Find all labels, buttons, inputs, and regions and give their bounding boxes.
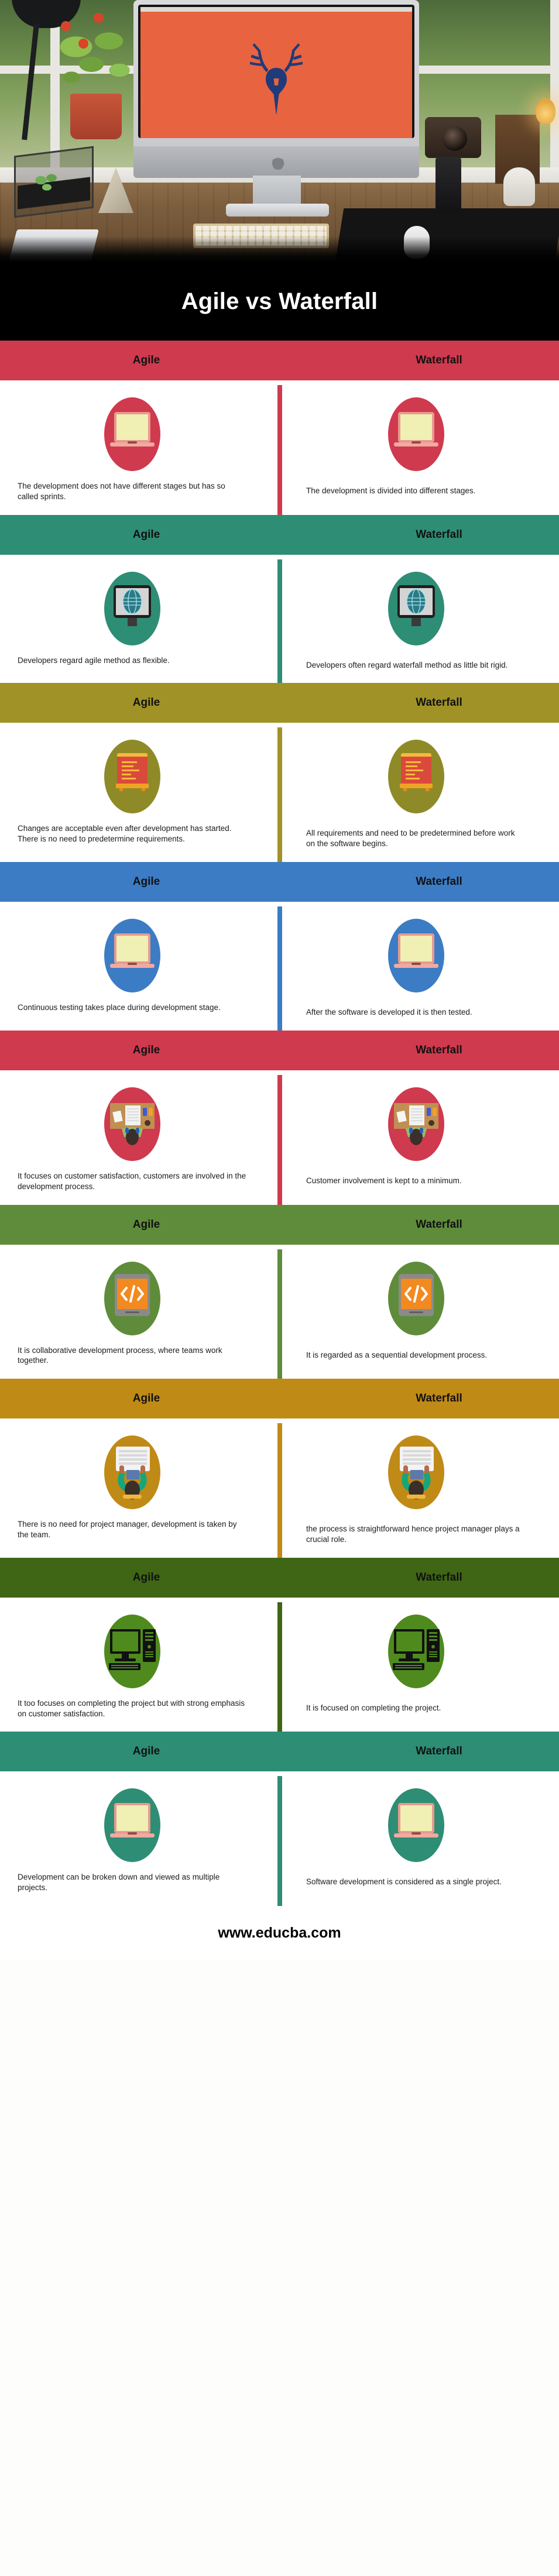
- comparison-section: Agile Waterfall Cha: [0, 683, 559, 862]
- band-label-agile: Agile: [79, 1392, 214, 1405]
- section-header-band: Agile Waterfall: [0, 1031, 559, 1070]
- comparison-section: Agile Waterfall: [0, 1379, 559, 1558]
- section-header-band: Agile Waterfall: [0, 515, 559, 555]
- document-board-icon: [383, 738, 449, 815]
- light-bulb-icon: [536, 98, 555, 124]
- agile-caption: Developers regard agile method as flexib…: [18, 655, 246, 666]
- comparison-sections: Agile Waterfall The development does not…: [0, 341, 559, 1906]
- comparison-section: Agile Waterfall The development does not…: [0, 341, 559, 515]
- band-label-waterfall: Waterfall: [372, 528, 506, 541]
- person-typing-icon: [383, 1434, 449, 1511]
- icon-artwork: [383, 1260, 449, 1337]
- title-band: Agile vs Waterfall: [0, 262, 559, 341]
- icon-artwork: [383, 396, 449, 473]
- icon-artwork: [383, 570, 449, 647]
- imac-stand-neck: [253, 176, 301, 206]
- agile-column: There is no need for project manager, de…: [0, 1434, 279, 1545]
- section-header-band: Agile Waterfall: [0, 1205, 559, 1245]
- icon-artwork: [100, 1613, 165, 1690]
- waterfall-column: Developers often regard waterfall method…: [279, 570, 558, 671]
- imac-stand-foot: [226, 204, 329, 217]
- band-label-waterfall: Waterfall: [372, 354, 506, 367]
- desk-scene: [0, 0, 559, 262]
- agile-column: Changes are acceptable even after develo…: [0, 738, 279, 849]
- icon-artwork: [100, 1260, 165, 1337]
- comparison-section: Agile Waterfall Development can be broke…: [0, 1732, 559, 1906]
- icon-artwork: [383, 738, 449, 815]
- waterfall-column: Software development is considered as a …: [279, 1787, 558, 1893]
- band-label-agile: Agile: [79, 1571, 214, 1584]
- band-label-agile: Agile: [79, 528, 214, 541]
- comparison-section: Agile Waterfall It is collaborative d: [0, 1205, 559, 1379]
- icon-artwork: [100, 1434, 165, 1511]
- waterfall-caption: The development is divided into differen…: [306, 481, 526, 496]
- deer-head-icon: [232, 31, 320, 119]
- band-label-waterfall: Waterfall: [372, 696, 506, 709]
- figurine-icon: [503, 167, 535, 206]
- agile-column: Continuous testing takes place during de…: [0, 917, 279, 1018]
- band-label-agile: Agile: [79, 1745, 214, 1758]
- section-body: It too focuses on completing the project…: [0, 1598, 559, 1732]
- page-title: Agile vs Waterfall: [181, 288, 378, 315]
- tablet-globe-icon: [383, 570, 449, 647]
- person-typing-icon: [100, 1434, 165, 1511]
- agile-column: Developers regard agile method as flexib…: [0, 570, 279, 671]
- waterfall-caption: It is regarded as a sequential developme…: [306, 1345, 526, 1361]
- code-tablet-icon: [100, 1260, 165, 1337]
- window-frame-right: [550, 0, 559, 176]
- desk-workspace-icon: [100, 1086, 165, 1163]
- waterfall-column: All requirements and need to be predeter…: [279, 738, 558, 849]
- flower-icon: [78, 39, 88, 49]
- agile-column: The development does not have different …: [0, 396, 279, 502]
- band-label-agile: Agile: [79, 1218, 214, 1231]
- section-body: Developers regard agile method as flexib…: [0, 555, 559, 684]
- waterfall-caption: Customer involvement is kept to a minimu…: [306, 1171, 526, 1186]
- waterfall-column: It is regarded as a sequential developme…: [279, 1260, 558, 1366]
- band-label-agile: Agile: [79, 1044, 214, 1057]
- section-body: The development does not have different …: [0, 380, 559, 515]
- waterfall-caption: the process is straightforward hence pro…: [306, 1519, 526, 1545]
- icon-artwork: [383, 1787, 449, 1864]
- agile-caption: It focuses on customer satisfaction, cus…: [18, 1171, 246, 1192]
- flower-icon: [94, 13, 104, 23]
- icon-artwork: [383, 1086, 449, 1163]
- waterfall-caption: Developers often regard waterfall method…: [306, 655, 526, 671]
- waterfall-column: the process is straightforward hence pro…: [279, 1434, 558, 1545]
- footer: www.educba.com: [0, 1906, 559, 1960]
- waterfall-column: After the software is developed it is th…: [279, 917, 558, 1018]
- waterfall-column: It is focused on completing the project.: [279, 1613, 558, 1719]
- laptop-icon: [383, 1787, 449, 1864]
- waterfall-caption: All requirements and need to be predeter…: [306, 823, 526, 849]
- laptop-icon: [383, 917, 449, 994]
- agile-caption: There is no need for project manager, de…: [18, 1519, 246, 1540]
- band-label-waterfall: Waterfall: [372, 1218, 506, 1231]
- section-body: It focuses on customer satisfaction, cus…: [0, 1070, 559, 1205]
- comparison-section: Agile Waterfall: [0, 1031, 559, 1205]
- waterfall-caption: After the software is developed it is th…: [306, 1002, 526, 1018]
- agile-caption: It too focuses on completing the project…: [18, 1698, 246, 1719]
- hero-photo: [0, 0, 559, 262]
- section-header-band: Agile Waterfall: [0, 1379, 559, 1418]
- desk-workspace-icon: [383, 1086, 449, 1163]
- agile-column: It is collaborative development process,…: [0, 1260, 279, 1366]
- agile-caption: Continuous testing takes place during de…: [18, 1002, 246, 1013]
- laptop-icon: [100, 1787, 165, 1864]
- icon-artwork: [100, 1787, 165, 1864]
- laptop-icon: [100, 396, 165, 473]
- waterfall-caption: Software development is considered as a …: [306, 1872, 526, 1887]
- section-body: Continuous testing takes place during de…: [0, 902, 559, 1031]
- band-label-agile: Agile: [79, 696, 214, 709]
- band-label-agile: Agile: [79, 354, 214, 367]
- agile-caption: The development does not have different …: [18, 481, 246, 502]
- section-body: Changes are acceptable even after develo…: [0, 723, 559, 862]
- icon-artwork: [100, 738, 165, 815]
- imac-screen: [138, 5, 414, 138]
- document-board-icon: [100, 738, 165, 815]
- menu-bar: [140, 7, 412, 12]
- section-header-band: Agile Waterfall: [0, 683, 559, 723]
- flower-icon: [61, 21, 71, 31]
- band-label-waterfall: Waterfall: [372, 875, 506, 888]
- agile-caption: Development can be broken down and viewe…: [18, 1872, 246, 1893]
- smartphone-icon: [435, 157, 461, 213]
- agile-column: It focuses on customer satisfaction, cus…: [0, 1086, 279, 1192]
- agile-caption: Changes are acceptable even after develo…: [18, 823, 246, 844]
- band-label-waterfall: Waterfall: [372, 1044, 506, 1057]
- icon-artwork: [383, 1434, 449, 1511]
- comparison-section: Agile Waterfall Continuous testing takes…: [0, 862, 559, 1031]
- icon-artwork: [100, 1086, 165, 1163]
- icon-artwork: [100, 917, 165, 994]
- tablet-globe-icon: [100, 570, 165, 647]
- comparison-section: Agile Waterfall Developers r: [0, 515, 559, 684]
- photo-fade: [0, 236, 559, 262]
- icon-artwork: [100, 396, 165, 473]
- band-label-waterfall: Waterfall: [372, 1571, 506, 1584]
- code-tablet-icon: [383, 1260, 449, 1337]
- band-label-agile: Agile: [79, 875, 214, 888]
- section-header-band: Agile Waterfall: [0, 1558, 559, 1598]
- agile-column: It too focuses on completing the project…: [0, 1613, 279, 1719]
- laptop-icon: [383, 396, 449, 473]
- icon-artwork: [383, 917, 449, 994]
- site-url[interactable]: www.educba.com: [218, 1925, 341, 1942]
- agile-column: Development can be broken down and viewe…: [0, 1787, 279, 1893]
- infographic-page: Agile vs Waterfall Agile Waterfall The d…: [0, 0, 559, 2576]
- section-header-band: Agile Waterfall: [0, 341, 559, 380]
- plant-pot-icon: [70, 94, 122, 139]
- camera-lens-icon: [443, 126, 467, 151]
- desktop-computer-icon: [383, 1613, 449, 1690]
- section-header-band: Agile Waterfall: [0, 1732, 559, 1771]
- plant-leaves-icon: [59, 23, 140, 105]
- icon-artwork: [383, 1613, 449, 1690]
- section-body: It is collaborative development process,…: [0, 1245, 559, 1379]
- waterfall-caption: It is focused on completing the project.: [306, 1698, 526, 1713]
- agile-caption: It is collaborative development process,…: [18, 1345, 246, 1366]
- band-label-waterfall: Waterfall: [372, 1392, 506, 1405]
- succulent-icon: [34, 173, 60, 193]
- desktop-computer-icon: [100, 1613, 165, 1690]
- waterfall-column: Customer involvement is kept to a minimu…: [279, 1086, 558, 1192]
- laptop-icon: [100, 917, 165, 994]
- section-body: Development can be broken down and viewe…: [0, 1771, 559, 1906]
- section-body: There is no need for project manager, de…: [0, 1418, 559, 1558]
- comparison-section: Agile Waterfall It too fo: [0, 1558, 559, 1732]
- icon-artwork: [100, 570, 165, 647]
- section-header-band: Agile Waterfall: [0, 862, 559, 902]
- band-label-waterfall: Waterfall: [372, 1745, 506, 1758]
- waterfall-column: The development is divided into differen…: [279, 396, 558, 502]
